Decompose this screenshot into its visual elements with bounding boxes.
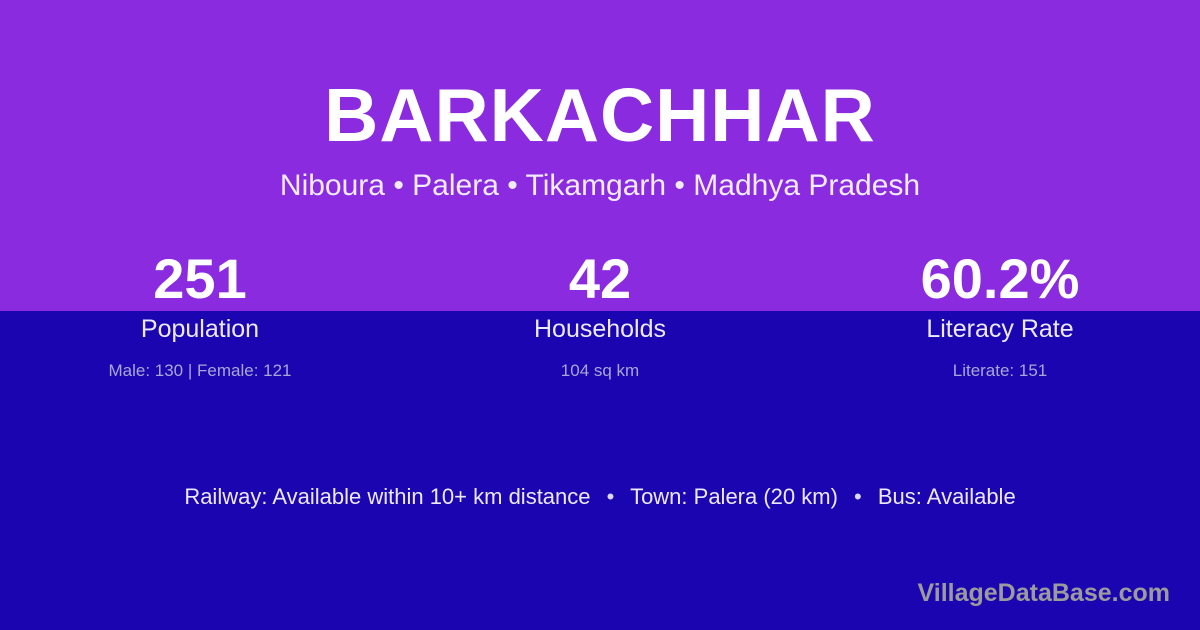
- stat-subtext: 104 sq km: [400, 362, 800, 379]
- info-item-railway: Railway: Available within 10+ km distanc…: [184, 484, 590, 509]
- stat-households: 42 Households 104 sq km: [400, 243, 800, 379]
- stat-value: 60.2%: [800, 243, 1200, 315]
- stat-label: Population: [0, 317, 400, 342]
- card-header: BARKACHHAR Niboura • Palera • Tikamgarh …: [0, 0, 1200, 201]
- stat-literacy-rate: 60.2% Literacy Rate Literate: 151: [800, 243, 1200, 379]
- info-item-town: Town: Palera (20 km): [630, 484, 838, 509]
- amenities-info-line: Railway: Available within 10+ km distanc…: [0, 484, 1200, 510]
- statistics-row: 251 Population Male: 130 | Female: 121 4…: [0, 243, 1200, 379]
- stat-population: 251 Population Male: 130 | Female: 121: [0, 243, 400, 379]
- bullet-separator-icon: •: [597, 484, 625, 510]
- info-item-bus: Bus: Available: [878, 484, 1016, 509]
- stat-value: 251: [0, 243, 400, 315]
- stat-subtext: Literate: 151: [800, 362, 1200, 379]
- village-info-card: BARKACHHAR Niboura • Palera • Tikamgarh …: [0, 0, 1200, 630]
- stat-label: Literacy Rate: [800, 317, 1200, 342]
- page-title: BARKACHHAR: [0, 78, 1200, 153]
- stat-subtext: Male: 130 | Female: 121: [0, 362, 400, 379]
- stat-label: Households: [400, 317, 800, 342]
- site-watermark: VillageDataBase.com: [918, 579, 1170, 608]
- bullet-separator-icon: •: [844, 484, 872, 510]
- stat-value: 42: [400, 243, 800, 315]
- breadcrumb: Niboura • Palera • Tikamgarh • Madhya Pr…: [0, 171, 1200, 201]
